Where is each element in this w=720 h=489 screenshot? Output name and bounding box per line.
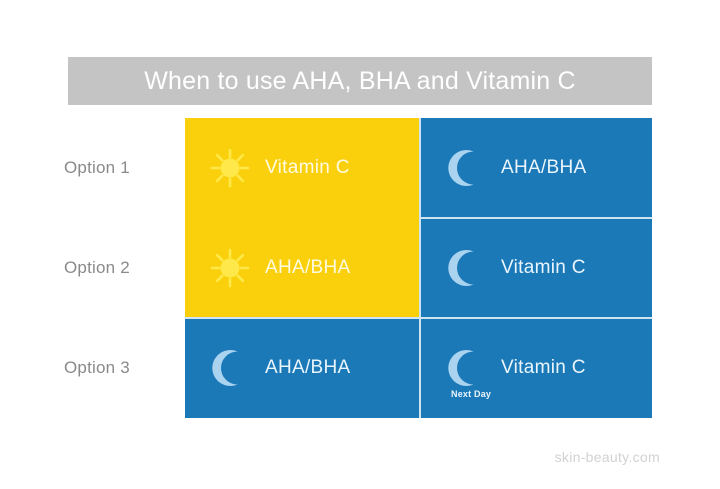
moon-icon — [443, 345, 489, 391]
moon-icon — [207, 345, 253, 391]
schedule-cell-evening[interactable]: AHA/BHA — [421, 118, 652, 218]
cell-divider-v — [419, 118, 421, 418]
infographic-canvas: When to use AHA, BHA and Vitamin C Optio… — [0, 0, 720, 489]
option-label: Option 1 — [64, 158, 130, 178]
moon-icon — [443, 245, 489, 291]
title-bar: When to use AHA, BHA and Vitamin C — [68, 57, 652, 105]
sun-icon — [207, 245, 253, 291]
page-title: When to use AHA, BHA and Vitamin C — [144, 69, 576, 94]
schedule-cell-evening[interactable]: Vitamin C Next Day — [421, 318, 652, 418]
site-watermark: skin-beauty.com — [555, 449, 660, 465]
treatment-label: AHA/BHA — [265, 357, 351, 379]
schedule-cell-morning[interactable]: AHA/BHA — [185, 318, 419, 418]
schedule-cell-morning[interactable]: AHA/BHA — [185, 218, 419, 318]
sun-icon — [207, 145, 253, 191]
next-day-note: Next Day — [451, 389, 491, 399]
schedule-cell-morning[interactable]: Vitamin C — [185, 118, 419, 218]
treatment-label: Vitamin C — [501, 257, 586, 279]
cell-divider-h — [421, 217, 652, 219]
option-label: Option 3 — [64, 358, 130, 378]
schedule-table: Option 1 — [57, 118, 652, 418]
treatment-label: Vitamin C — [501, 357, 586, 379]
row-label-cell: Option 1 — [57, 118, 185, 218]
option-label: Option 2 — [64, 258, 130, 278]
row-label-cell: Option 3 — [57, 318, 185, 418]
row-label-cell: Option 2 — [57, 218, 185, 318]
table-row: Option 3 AHA/BHA — [57, 318, 652, 418]
table-row: Option 2 — [57, 218, 652, 318]
moon-icon — [443, 145, 489, 191]
treatment-label: AHA/BHA — [265, 257, 351, 279]
table-row: Option 1 — [57, 118, 652, 218]
treatment-label: AHA/BHA — [501, 157, 587, 179]
treatment-label: Vitamin C — [265, 157, 350, 179]
schedule-cell-evening[interactable]: Vitamin C — [421, 218, 652, 318]
